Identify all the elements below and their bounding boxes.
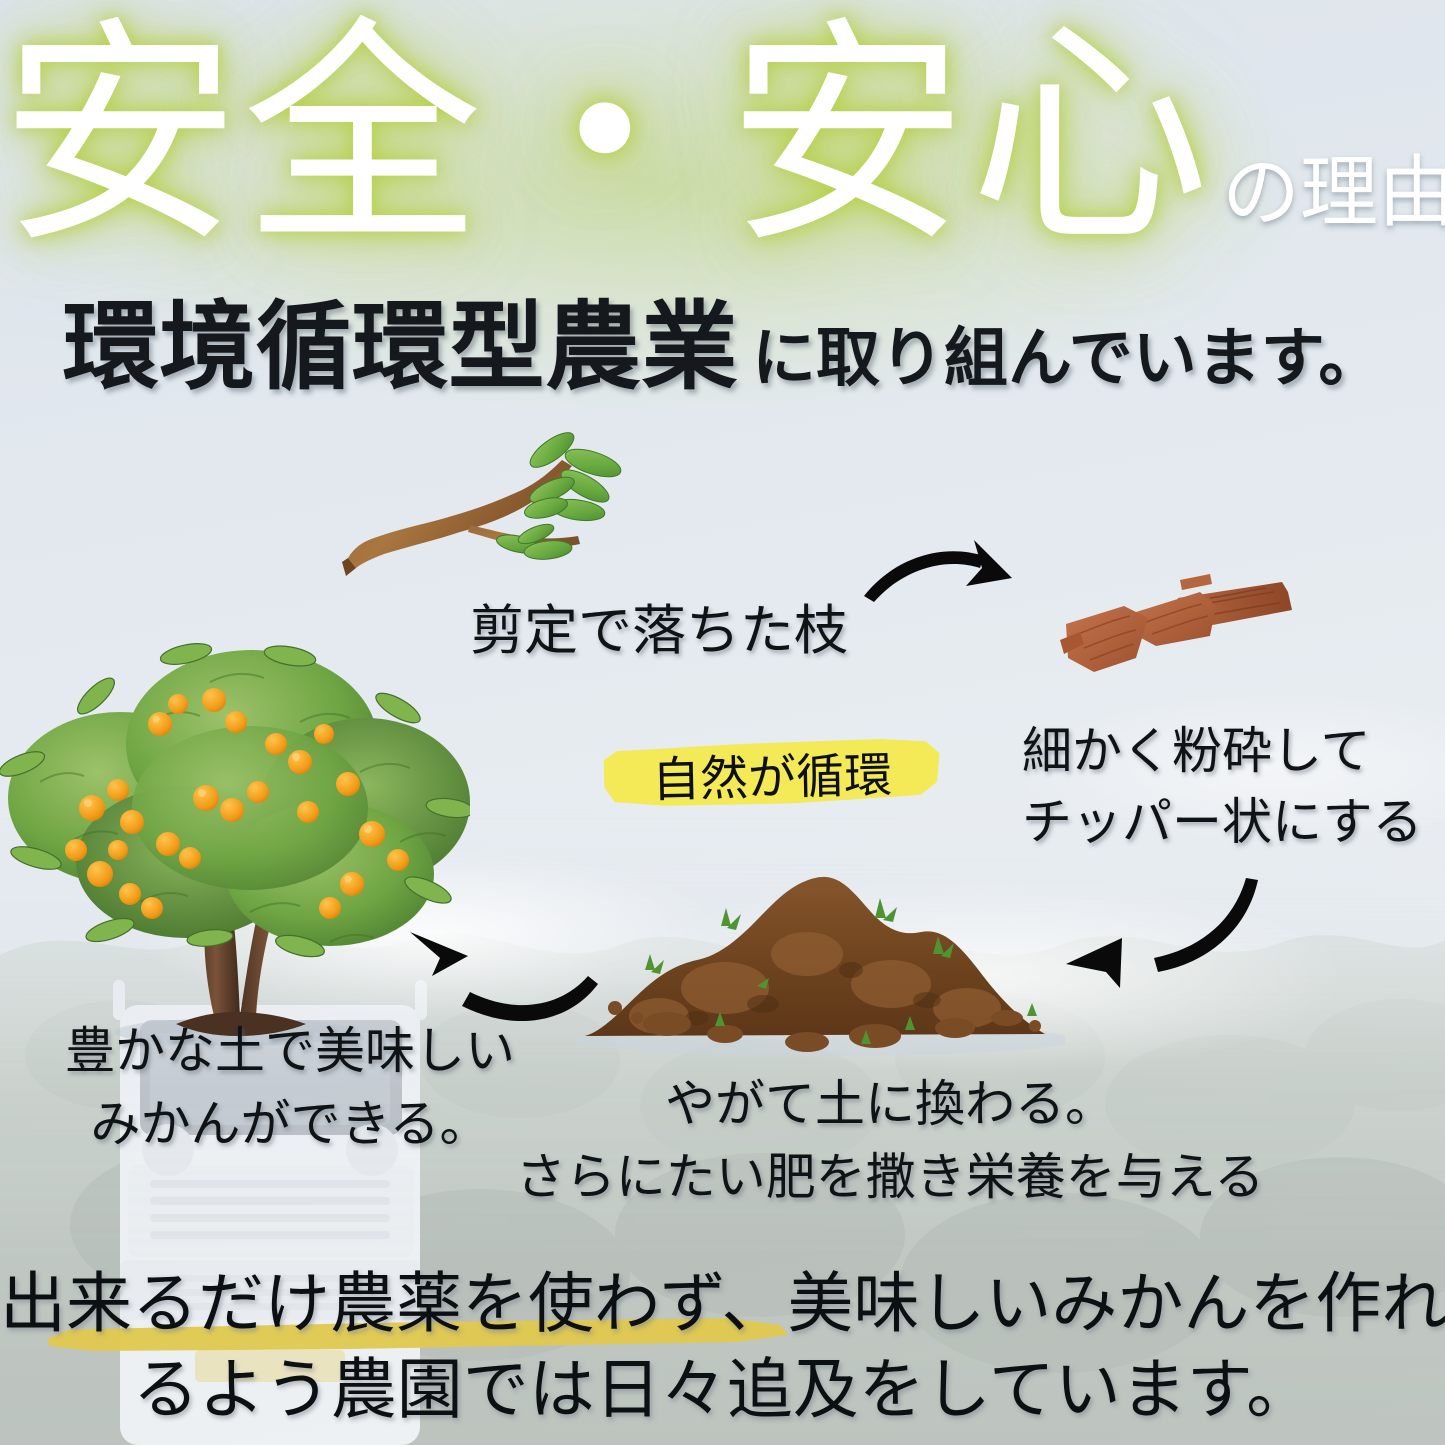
caption-soil-line1: やがて土に換わる。	[500, 1075, 1280, 1134]
soil-pile-illustration	[575, 858, 1065, 1058]
caption-tree-line2: みかんができる。	[60, 1095, 520, 1154]
caption-soil: やがて土に換わる。 さらにたい肥を撒き栄養を与える	[500, 1075, 1280, 1207]
caption-branch: 剪定で落ちた枝	[470, 600, 848, 664]
mikan-tree-illustration	[0, 612, 470, 1052]
title-main-text: 安全・安心	[0, 5, 1212, 271]
caption-tree-line1: 豊かな土で美味しい	[60, 1022, 520, 1081]
badge-label: 自然が循環	[603, 738, 940, 807]
wood-chips-illustration	[1060, 562, 1360, 712]
caption-soil-line2: さらにたい肥を撒き栄養を与える	[500, 1148, 1280, 1207]
subtitle-tail-text: に取り組んでいます。	[752, 323, 1382, 394]
caption-chips-line1: 細かく粉砕して	[1022, 722, 1423, 781]
footer-line1: 出来るだけ農薬を使わず、美味しいみかんを作れ	[0, 1262, 1445, 1348]
curved-arrow-down-left-icon	[1062, 876, 1262, 996]
subtitle: 環境循環型農業に取り組んでいます。	[0, 300, 1445, 396]
curved-arrow-right-icon	[862, 534, 1042, 624]
caption-chips: 細かく粉砕して チッパー状にする	[1022, 722, 1423, 852]
caption-tree: 豊かな土で美味しい みかんができる。	[60, 1022, 520, 1154]
pruned-branch-illustration	[340, 428, 700, 608]
page-title: 安全・安心の理由	[0, 18, 1445, 258]
caption-chips-line2: チッパー状にする	[1022, 793, 1423, 852]
infographic-poster: 安全・安心の理由 環境循環型農業に取り組んでいます。	[0, 0, 1445, 1445]
cycle-badge: 自然が循環	[604, 742, 940, 804]
footer-text: 出来るだけ農薬を使わず、美味しいみかんを作れ るよう農園では日々追及をしています…	[0, 1262, 1445, 1434]
subtitle-strong-text: 環境循環型農業	[63, 294, 738, 401]
footer-line2: るよう農園では日々追及をしています。	[0, 1348, 1445, 1434]
title-suffix-text: の理由	[1222, 149, 1445, 236]
